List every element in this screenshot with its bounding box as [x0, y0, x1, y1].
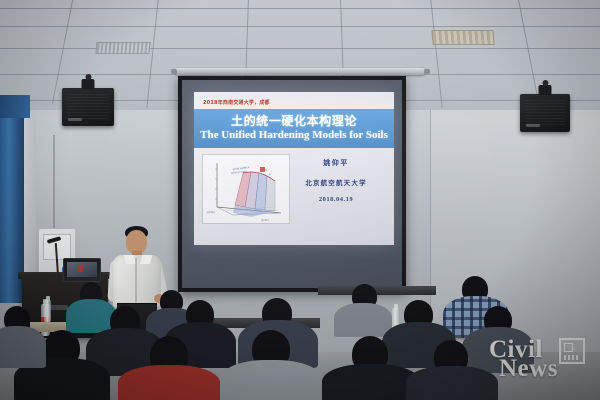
- screen-roller-bar: [175, 68, 425, 75]
- water-bottle-desk-1: [44, 300, 51, 322]
- slide-title-chinese: 土的统一硬化本构理论: [194, 112, 394, 129]
- audience-shoulders: [0, 326, 46, 368]
- wall-speaker-left-icon: [62, 88, 114, 126]
- svg-text:q: q: [265, 169, 267, 172]
- slide-author-name: 姚仰平: [288, 158, 384, 168]
- projected-slide: 2018年西南交通大学，成都 土的统一硬化本构理论 The Unified Ha…: [194, 92, 394, 245]
- slide-title-english: The Unified Hardening Models for Soils: [194, 129, 394, 141]
- desk-row-back: [318, 286, 436, 295]
- laptop: [63, 258, 101, 282]
- slide-figure-3d-surface-plot: yield surface critical state q p p(kPa) …: [202, 154, 290, 224]
- audience-shoulders: [334, 303, 392, 337]
- slide-venue-line: 2018年西南交通大学，成都: [203, 99, 270, 106]
- svg-text:q(kPa): q(kPa): [261, 219, 269, 222]
- audience-shoulders: [66, 299, 116, 333]
- lecture-hall-photo: 2018年西南交通大学，成都 土的统一硬化本构理论 The Unified Ha…: [0, 0, 600, 400]
- audience-shoulders: [406, 366, 498, 400]
- audience-shoulders: [462, 327, 534, 373]
- ceiling-vent-left: [95, 42, 150, 54]
- slide-author-organization: 北京航空航天大学: [288, 177, 384, 187]
- lectern-plate: [50, 305, 68, 310]
- svg-text:p(kPa): p(kPa): [207, 211, 215, 214]
- wall-speaker-right-icon: [520, 94, 570, 132]
- slide-date: 2018.04.19: [288, 196, 384, 203]
- ceiling-light-panel: [431, 30, 494, 45]
- audience-shoulders: [118, 365, 220, 400]
- window-frame: [24, 118, 36, 298]
- slide-author-block: 姚仰平 北京航空航天大学 2018.04.19: [288, 158, 384, 203]
- audience-shoulders: [220, 360, 322, 400]
- svg-text:p: p: [269, 173, 271, 176]
